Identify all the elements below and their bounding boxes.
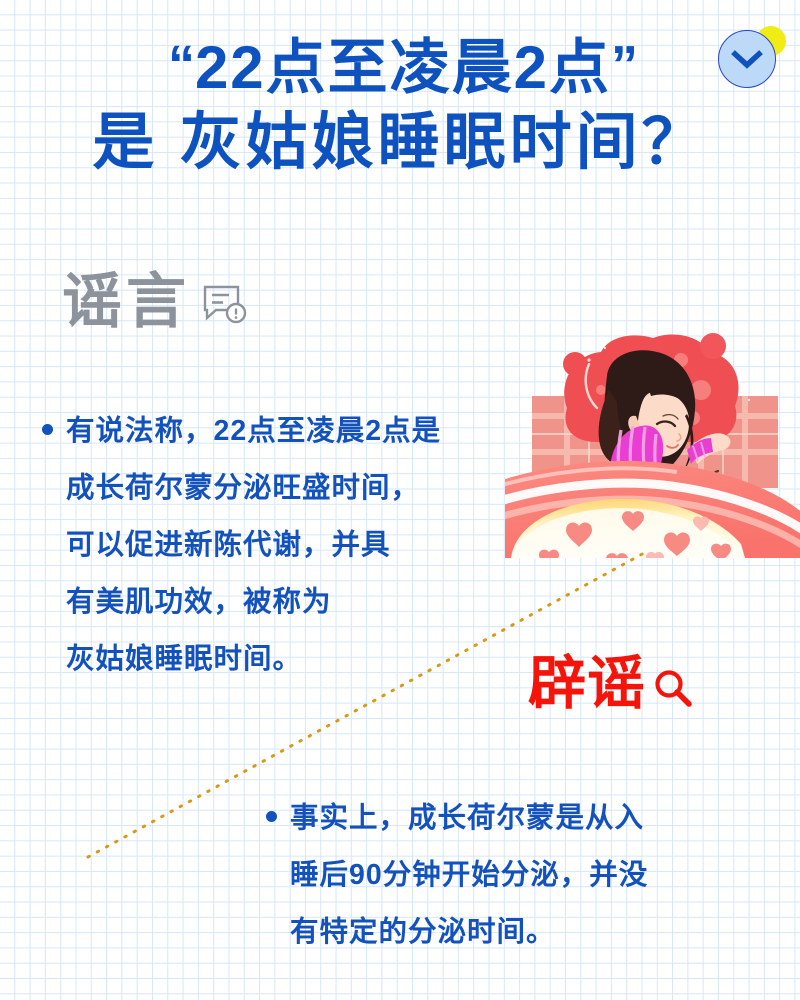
debunk-line: 睡后90分钟开始分泌，并没: [290, 847, 772, 904]
bullet-dot-icon: [42, 424, 53, 435]
sleeping-girl-in-bed-illustration: [505, 330, 800, 558]
rumor-section-heading: 谣言: [62, 272, 248, 332]
magnifier-icon: [652, 667, 694, 709]
title-line-1: “22点至凌晨2点”: [6, 38, 800, 98]
debunk-section-heading: 辟谣: [528, 655, 694, 713]
rumor-line: 有美肌功效，被称为: [66, 574, 538, 631]
rumor-body-text: 有说法称，22点至凌晨2点是 成长荷尔蒙分泌旺盛时间， 可以促进新陈代谢，并具 …: [38, 403, 538, 688]
rumor-paragraph: 有说法称，22点至凌晨2点是 成长荷尔蒙分泌旺盛时间， 可以促进新陈代谢，并具 …: [66, 403, 538, 688]
title-line-2: 是 灰姑娘睡眠时间？: [0, 112, 800, 174]
rumor-line: 有说法称，22点至凌晨2点是: [66, 403, 538, 460]
poster-canvas: “22点至凌晨2点” 是 灰姑娘睡眠时间？ 谣言 有说法称，22点至凌晨2点是 …: [0, 0, 800, 1000]
rumor-speech-bubble-alert-icon: [202, 284, 248, 326]
debunk-line: 有特定的分泌时间。: [290, 904, 772, 961]
page-title: “22点至凌晨2点” 是 灰姑娘睡眠时间？: [0, 38, 800, 174]
debunk-line: 事实上，成长荷尔蒙是从入: [290, 790, 772, 847]
rumor-line: 灰姑娘睡眠时间。: [66, 631, 538, 688]
debunk-paragraph: 事实上，成长荷尔蒙是从入 睡后90分钟开始分泌，并没 有特定的分泌时间。: [290, 790, 772, 961]
title-line-1-text: 22点至凌晨2点: [195, 34, 611, 101]
rumor-line: 可以促进新陈代谢，并具: [66, 517, 538, 574]
debunk-label: 辟谣: [528, 655, 646, 713]
bullet-dot-icon: [266, 811, 277, 822]
open-quote-mark: “: [168, 35, 195, 95]
rumor-line: 成长荷尔蒙分泌旺盛时间，: [66, 460, 538, 517]
debunk-body-text: 事实上，成长荷尔蒙是从入 睡后90分钟开始分泌，并没 有特定的分泌时间。: [262, 790, 772, 961]
rumor-label: 谣言: [62, 272, 190, 332]
close-quote-mark: ”: [611, 35, 638, 95]
